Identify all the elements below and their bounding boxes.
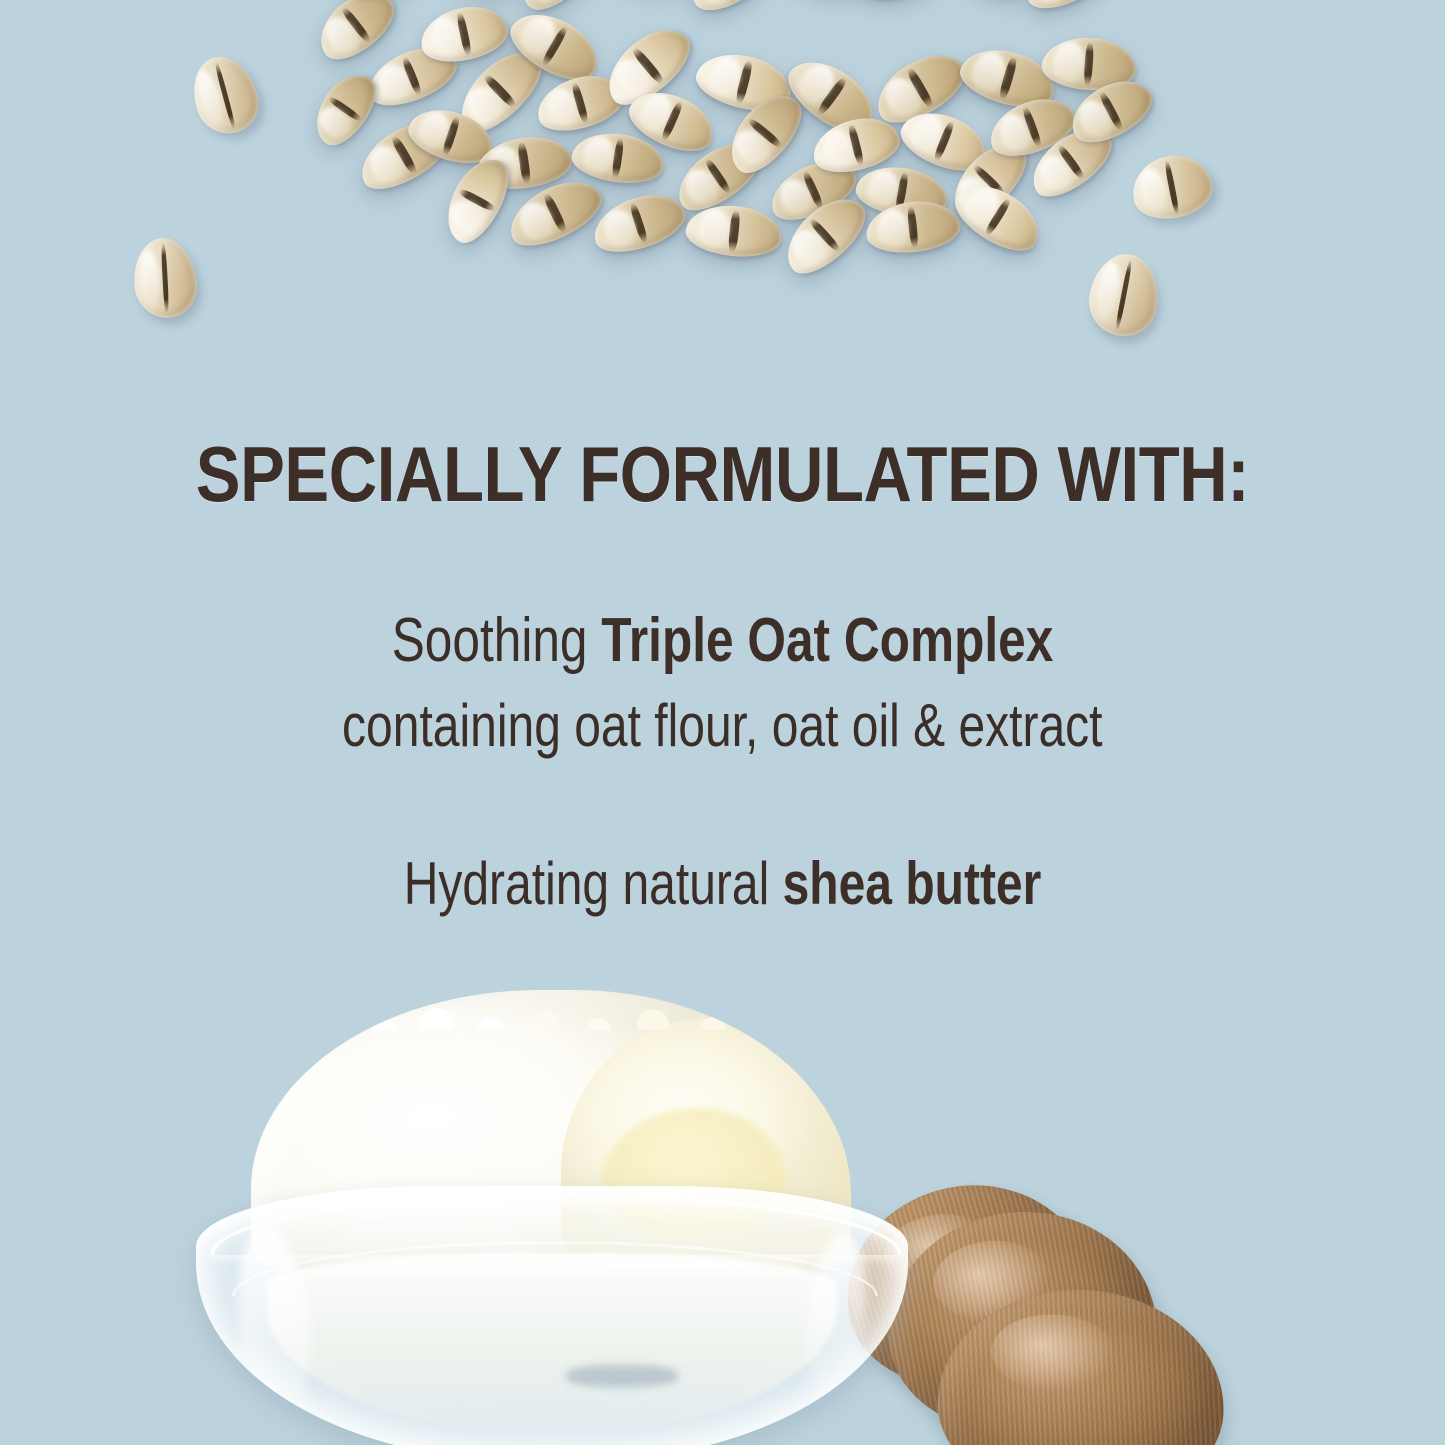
ingredient-1-emphasis: Triple Oat Complex [601, 606, 1053, 675]
oat-flake-loose-1 [183, 48, 266, 141]
glass-bowl [196, 1186, 908, 1445]
oat-flake-loose-2 [130, 235, 200, 321]
product-ingredient-panel: SPECIALLY FORMULATED WITH: Soothing Trip… [0, 0, 1445, 1445]
ingredient-1-prefix: Soothing [392, 606, 602, 675]
ingredient-1-line-2: containing oat flour, oat oil & extract [0, 694, 1445, 758]
ingredient-2-emphasis: shea butter [783, 850, 1042, 917]
shea-butter-bowl-image [196, 990, 908, 1445]
ingredient-1-detail: containing oat flour, oat oil & extract [342, 694, 1102, 758]
ingredient-1-line-1: Soothing Triple Oat Complex [0, 608, 1445, 674]
oat-flakes-pile-image [300, 0, 1140, 380]
ingredient-2-line-1: Hydrating natural shea butter [0, 852, 1445, 916]
ingredient-2-prefix: Hydrating natural [404, 850, 783, 917]
page-title: SPECIALLY FORMULATED WITH: [101, 432, 1344, 516]
